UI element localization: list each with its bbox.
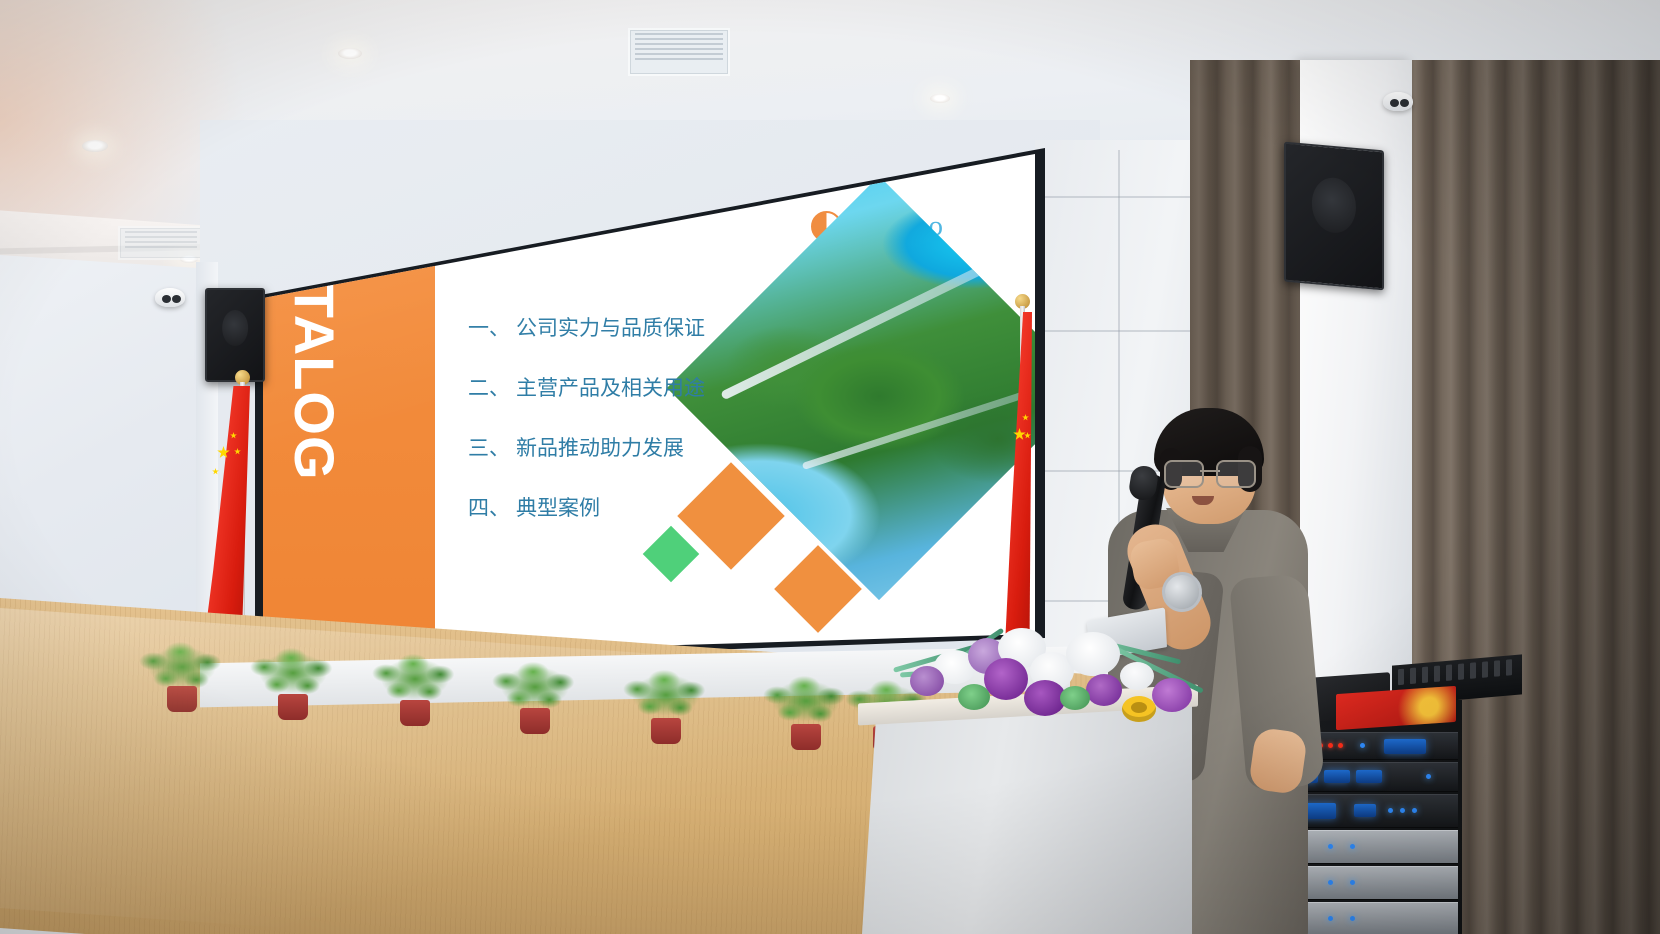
presentation-photo-scene: 目录 CATALOG Fengbo 一、公司实力与品质保证 <box>0 0 1660 934</box>
downlight-icon <box>82 140 108 152</box>
eyeglasses-icon <box>1164 460 1256 484</box>
potted-plant <box>760 672 852 760</box>
wall-speaker-right <box>1284 142 1384 291</box>
podium <box>862 700 1192 934</box>
potted-plant <box>370 650 460 736</box>
agenda-number: 二、 <box>468 376 510 400</box>
ceiling-vent-icon <box>118 226 204 260</box>
wall-speaker-left <box>205 288 265 382</box>
flower-white-lily <box>1066 632 1120 676</box>
microphone-holder <box>1122 696 1156 722</box>
security-camera-icon <box>1383 92 1413 111</box>
potted-plant <box>620 666 712 754</box>
downlight-icon <box>338 48 362 59</box>
agenda-label: 典型案例 <box>516 496 600 520</box>
flower-green-filler <box>1060 686 1090 710</box>
agenda-item: 一、公司实力与品质保证 <box>468 312 705 342</box>
flower-purple-rose <box>984 658 1028 700</box>
agenda-number: 四、 <box>468 496 510 520</box>
agenda-item: 二、主营产品及相关用途 <box>468 372 705 402</box>
agenda-item: 三、新品推动助力发展 <box>468 432 705 462</box>
flower-purple <box>1086 674 1122 706</box>
potted-plant <box>490 658 580 744</box>
flower-purple <box>910 666 944 696</box>
flower-bouquet <box>890 604 1230 722</box>
agenda-item: 四、典型案例 <box>468 492 705 522</box>
wall-panel-seam <box>1042 330 1208 332</box>
flower-white <box>1120 662 1154 690</box>
security-camera-icon <box>155 288 185 307</box>
ceiling-vent-icon <box>628 28 730 76</box>
flower-green-filler <box>958 684 990 710</box>
flower-purple <box>1152 678 1192 712</box>
agenda-label: 公司实力与品质保证 <box>516 316 705 340</box>
potted-plant <box>248 644 338 730</box>
agenda-label: 新品推动助力发展 <box>516 436 684 460</box>
agenda-number: 一、 <box>468 316 510 340</box>
slide-agenda-list: 一、公司实力与品质保证 二、主营产品及相关用途 三、新品推动助力发展 四、典型案… <box>468 312 705 552</box>
potted-plant <box>146 638 218 718</box>
downlight-icon <box>930 94 950 103</box>
wall-panel-seam <box>1042 196 1208 198</box>
agenda-label: 主营产品及相关用途 <box>516 376 705 400</box>
agenda-number: 三、 <box>468 436 510 460</box>
